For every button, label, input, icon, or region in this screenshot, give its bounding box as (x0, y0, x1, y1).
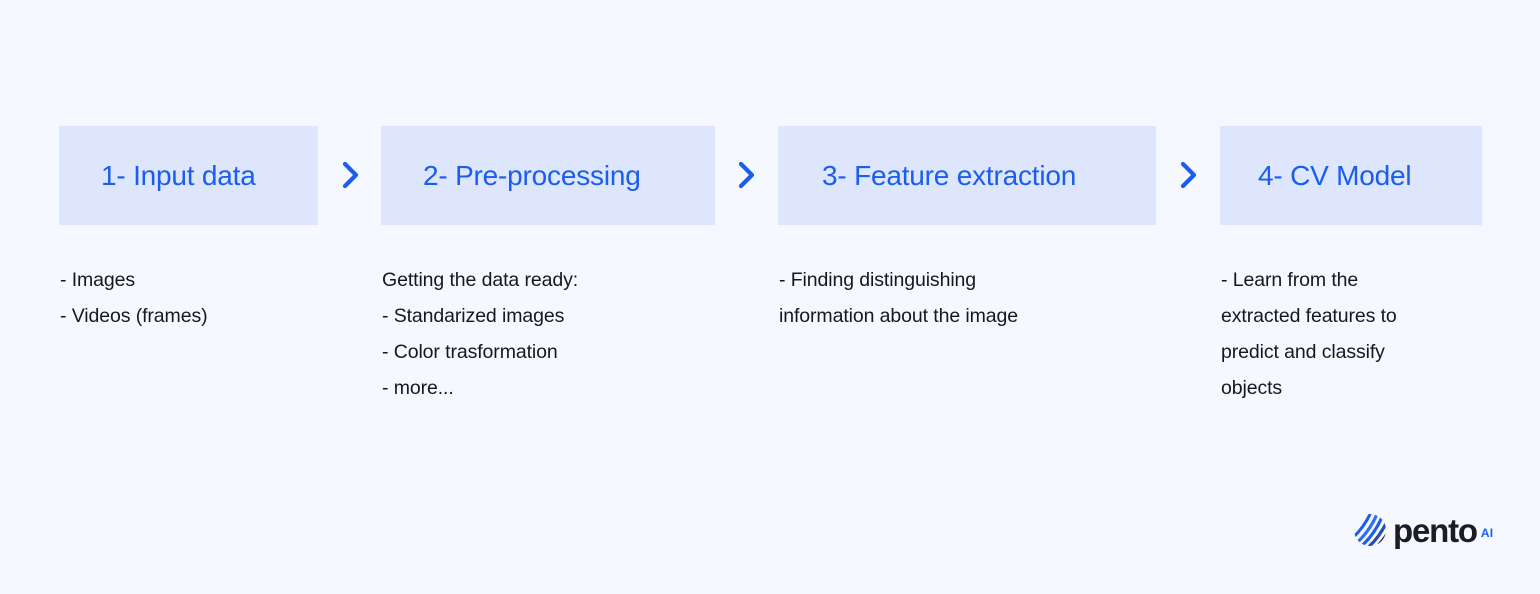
stage-3-line-2: information about the image (779, 298, 1119, 334)
stage-4-line-4: objects (1221, 370, 1491, 406)
stage-4-header-box[interactable]: 4- CV Model (1220, 126, 1482, 225)
stage-4-title: 4- CV Model (1258, 162, 1411, 190)
chevron-right-icon-2 (730, 158, 764, 192)
stage-1-line-2: - Videos (frames) (60, 298, 360, 334)
logo-ai-suffix: AI (1481, 526, 1493, 540)
stage-3-header-box[interactable]: 3- Feature extraction (778, 126, 1156, 225)
chevron-right-icon-3 (1172, 158, 1206, 192)
pipeline-stage-3: 3- Feature extraction - Finding distingu… (778, 126, 1156, 225)
stage-2-line-1: Getting the data ready: (382, 262, 722, 298)
pipeline-stage-4: 4- CV Model - Learn from the extracted f… (1220, 126, 1482, 225)
stage-2-header-box[interactable]: 2- Pre-processing (381, 126, 715, 225)
stage-1-line-1: - Images (60, 262, 360, 298)
stage-2-description: Getting the data ready: - Standarized im… (382, 262, 722, 406)
stage-1-title: 1- Input data (101, 162, 256, 190)
logo-wordmark: pento (1393, 514, 1477, 547)
chevron-right-icon-1 (334, 158, 368, 192)
stage-3-title: 3- Feature extraction (822, 162, 1076, 190)
stage-1-description: - Images - Videos (frames) (60, 262, 360, 334)
pento-ai-logo: pento AI (1352, 510, 1493, 550)
stage-4-line-2: extracted features to (1221, 298, 1491, 334)
stage-2-line-2: - Standarized images (382, 298, 722, 334)
stage-1-header-box[interactable]: 1- Input data (59, 126, 318, 225)
stage-3-description: - Finding distinguishing information abo… (779, 262, 1119, 334)
pipeline-stage-1: 1- Input data - Images - Videos (frames) (59, 126, 318, 225)
stage-3-line-1: - Finding distinguishing (779, 262, 1119, 298)
stage-4-line-1: - Learn from the (1221, 262, 1491, 298)
stage-4-line-3: predict and classify (1221, 334, 1491, 370)
diagram-canvas: 1- Input data - Images - Videos (frames)… (0, 0, 1540, 594)
stage-2-line-4: - more... (382, 370, 722, 406)
stage-2-title: 2- Pre-processing (423, 162, 641, 190)
pento-globe-mark-icon (1352, 512, 1388, 548)
pipeline-stage-2: 2- Pre-processing Getting the data ready… (381, 126, 715, 225)
stage-2-line-3: - Color trasformation (382, 334, 722, 370)
stage-4-description: - Learn from the extracted features to p… (1221, 262, 1491, 406)
